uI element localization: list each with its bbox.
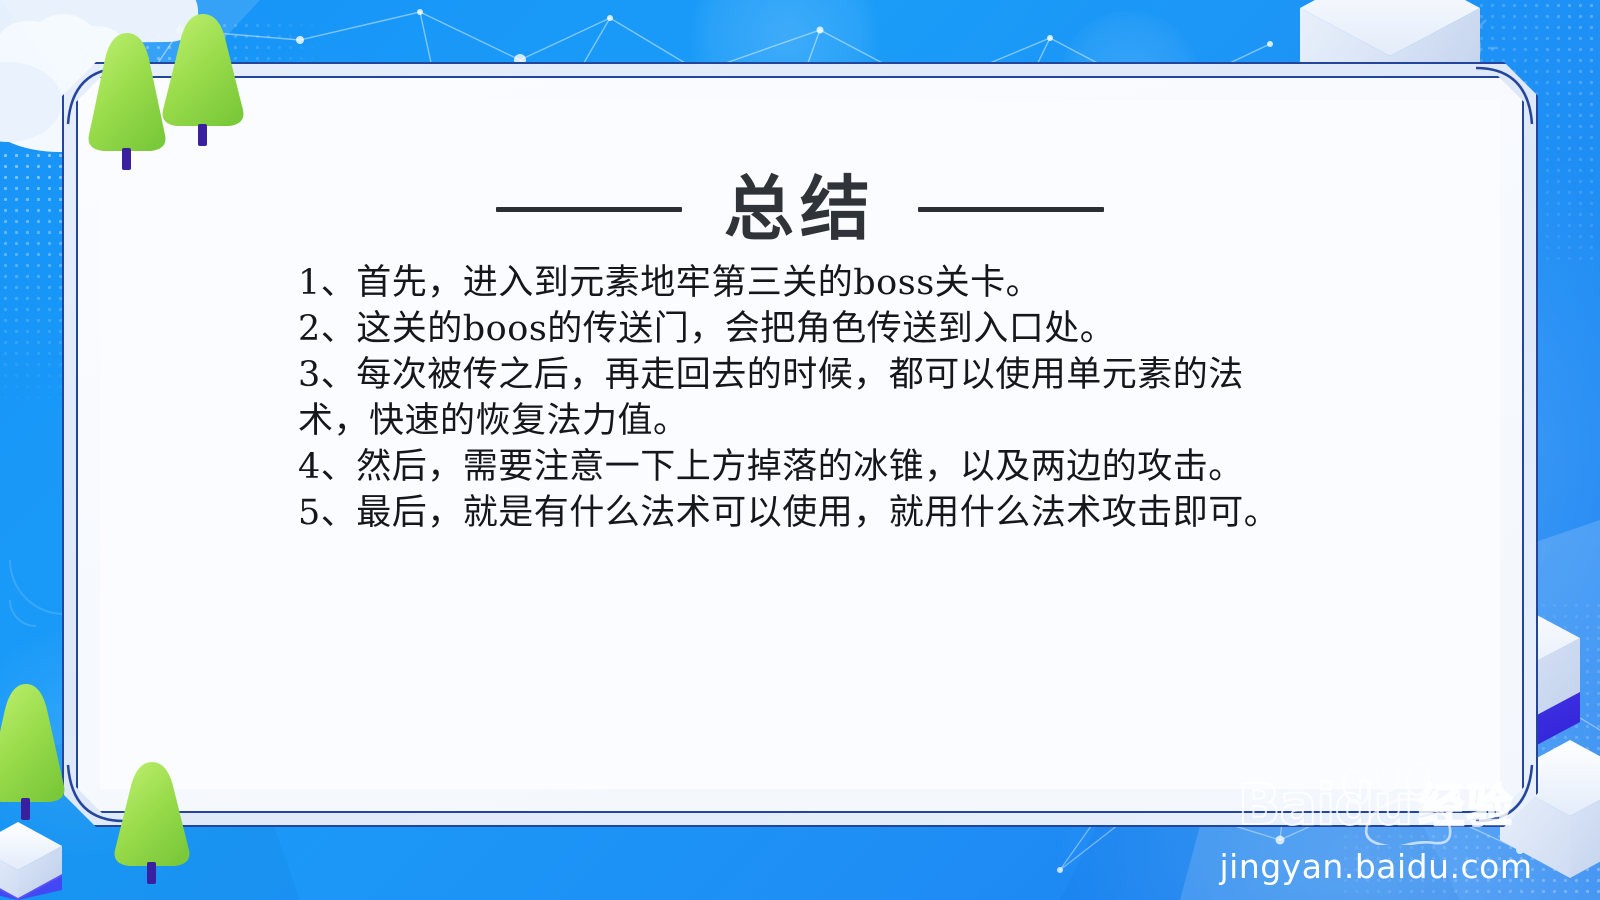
summary-steps-list: 1、首先，进入到元素地牢第三关的boss关卡。 2、这关的boos的传送门，会把…: [298, 260, 1308, 536]
slide-canvas: 总结 1、首先，进入到元素地牢第三关的boss关卡。 2、这关的boos的传送门…: [0, 0, 1600, 900]
content-card: 总结 1、首先，进入到元素地牢第三关的boss关卡。 2、这关的boos的传送门…: [62, 62, 1538, 827]
corner-arc-top-left: [66, 66, 126, 126]
circuit-arc-left: [10, 560, 64, 626]
summary-step: 1、首先，进入到元素地牢第三关的boss关卡。: [298, 260, 1308, 306]
title-rule-left: [496, 207, 682, 212]
watermark-url: jingyan.baidu.com: [1176, 847, 1576, 886]
slide-title-row: 总结: [62, 174, 1538, 244]
small-cube-bottom-left: [0, 822, 62, 900]
summary-step: 2、这关的boos的传送门，会把角色传送到入口处。: [298, 306, 1308, 352]
summary-step: 3、每次被传之后，再走回去的时候，都可以使用单元素的法术，快速的恢复法力值。: [298, 352, 1308, 444]
corner-arc-bottom-left: [66, 763, 126, 823]
corner-arc-top-right: [1474, 66, 1534, 126]
corner-arc-bottom-right: [1474, 763, 1534, 823]
summary-step: 5、最后，就是有什么法术可以使用，就用什么法术攻击即可。: [298, 490, 1308, 536]
isometric-cube-bottom-left: [0, 0, 42, 900]
slide-title: 总结: [724, 174, 876, 244]
summary-step: 4、然后，需要注意一下上方掉落的冰锥，以及两边的攻击。: [298, 444, 1308, 490]
title-rule-right: [918, 207, 1104, 212]
tree-icon: [0, 684, 64, 820]
